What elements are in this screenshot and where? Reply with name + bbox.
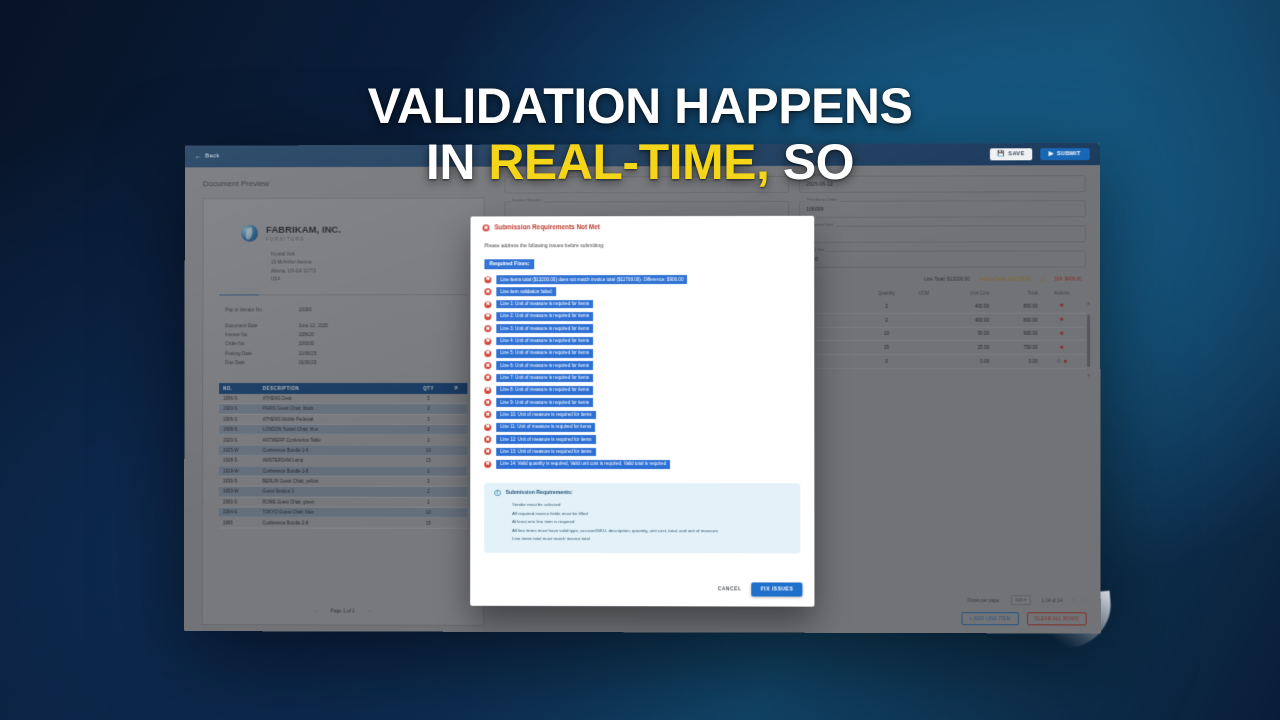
- dialog-subtitle: Please address the following issues befo…: [470, 237, 814, 254]
- requirement-item: Vendor must be selected: [512, 501, 790, 510]
- requirement-item: At least one line item is required: [512, 518, 790, 527]
- submit-button-label: SUBMIT: [1057, 151, 1081, 157]
- dialog-header: ✖ Submission Requirements Not Met: [471, 216, 815, 238]
- error-circle-icon: ✖: [484, 399, 491, 406]
- requirement-item: Line items total must match invoice tota…: [512, 535, 790, 544]
- error-message: Line 13: Unit of measure is required for…: [496, 448, 595, 457]
- error-circle-icon: ✖: [484, 411, 491, 418]
- error-circle-icon: ✖: [484, 448, 491, 455]
- info-icon: i: [494, 490, 500, 497]
- error-list-item: ✖Line 3: Unit of measure is required for…: [484, 324, 800, 333]
- error-list-item: ✖Line 4: Unit of measure is required for…: [484, 337, 800, 346]
- error-message: Line 14: Valid quantity is required, Val…: [496, 460, 670, 469]
- error-message: Line 6: Unit of measure is required for …: [496, 361, 593, 370]
- device-screen-wrapper: ← Back 💾 SAVE ▶ SUBMIT Document Preview: [182, 144, 1098, 632]
- error-message: Line 11: Unit of measure is required for…: [496, 423, 595, 432]
- error-list-item: ✖Line 6: Unit of measure is required for…: [484, 361, 800, 370]
- error-circle-icon: ✖: [484, 424, 491, 431]
- back-button[interactable]: ← Back: [195, 153, 220, 160]
- error-message: Line 2: Unit of measure is required for …: [496, 312, 593, 321]
- save-button[interactable]: 💾 SAVE: [990, 148, 1031, 160]
- error-circle-icon: ✖: [484, 325, 491, 332]
- error-message: Line 8: Unit of measure is required for …: [496, 386, 593, 395]
- error-circle-icon: ✖: [484, 461, 491, 468]
- application-window: ← Back 💾 SAVE ▶ SUBMIT Document Preview: [184, 143, 1101, 634]
- error-circle-icon: ✖: [484, 436, 491, 443]
- error-circle-icon: ✖: [482, 224, 489, 231]
- error-list-item: ✖Line 11: Unit of measure is required fo…: [484, 423, 800, 432]
- submission-requirements-panel: i Submission Requirements: Vendor must b…: [484, 483, 800, 554]
- error-message: Line item validation failed: [496, 287, 555, 296]
- error-circle-icon: ✖: [484, 288, 491, 295]
- error-message: Line 7: Unit of measure is required for …: [496, 374, 593, 383]
- error-list-item: ✖Line 7: Unit of measure is required for…: [484, 374, 800, 383]
- arrow-left-icon: ←: [195, 153, 202, 160]
- error-circle-icon: ✖: [484, 362, 491, 369]
- error-message: Line 12: Unit of measure is required for…: [496, 435, 595, 444]
- requirements-title-row: i Submission Requirements:: [494, 490, 790, 497]
- requirements-list: Vendor must be selectedAll required invo…: [512, 501, 790, 544]
- submit-button[interactable]: ▶ SUBMIT: [1040, 148, 1090, 160]
- back-button-label: Back: [205, 153, 219, 159]
- fix-issues-button[interactable]: FIX ISSUES: [752, 582, 803, 596]
- submission-requirements-dialog: ✖ Submission Requirements Not Met Please…: [470, 216, 814, 607]
- error-message: Line 10: Unit of measure is required for…: [496, 411, 595, 420]
- error-circle-icon: ✖: [484, 338, 491, 345]
- error-circle-icon: ✖: [484, 387, 491, 394]
- error-list-item: ✖Line 1: Unit of measure is required for…: [484, 300, 800, 309]
- error-list-item: ✖Line 2: Unit of measure is required for…: [484, 312, 800, 321]
- error-list-item: ✖Line 14: Valid quantity is required, Va…: [484, 460, 800, 469]
- cancel-button[interactable]: CANCEL: [718, 586, 742, 592]
- error-list-item: ✖Line 13: Unit of measure is required fo…: [484, 448, 800, 457]
- requirement-item: All required invoice fields must be fill…: [512, 510, 790, 519]
- error-message: Line 1: Unit of measure is required for …: [496, 300, 593, 309]
- error-message: Line items total ($13200.00) does not ma…: [496, 275, 687, 284]
- save-button-label: SAVE: [1008, 151, 1024, 157]
- app-screen: ← Back 💾 SAVE ▶ SUBMIT Document Preview: [184, 143, 1101, 634]
- dialog-footer: CANCEL FIX ISSUES: [470, 574, 814, 607]
- error-list-item: ✖Line 5: Unit of measure is required for…: [484, 349, 800, 358]
- dialog-title: Submission Requirements Not Met: [494, 224, 600, 231]
- error-message: Line 4: Unit of measure is required for …: [496, 337, 593, 346]
- app-top-bar: ← Back 💾 SAVE ▶ SUBMIT: [185, 143, 1100, 167]
- error-list-item: ✖Line 8: Unit of measure is required for…: [484, 386, 800, 395]
- error-message: Line 3: Unit of measure is required for …: [496, 324, 593, 333]
- error-list-item: ✖Line item validation failed: [484, 287, 800, 296]
- error-circle-icon: ✖: [484, 350, 491, 357]
- requirements-title: Submission Requirements:: [506, 490, 573, 496]
- error-circle-icon: ✖: [484, 276, 491, 283]
- error-circle-icon: ✖: [484, 313, 491, 320]
- error-message: Line 5: Unit of measure is required for …: [496, 349, 593, 358]
- error-list-item: ✖Line 12: Unit of measure is required fo…: [484, 435, 800, 444]
- send-icon: ▶: [1049, 151, 1054, 157]
- error-circle-icon: ✖: [484, 375, 491, 382]
- error-list-item: ✖Line items total ($13200.00) does not m…: [484, 275, 800, 284]
- required-fixes-label: Required Fixes:: [484, 259, 534, 269]
- app-body: Document Preview FABRIKAM, INC. FURNITUR…: [184, 165, 1101, 633]
- error-message: Line 9: Unit of measure is required for …: [496, 398, 593, 407]
- error-list: ✖Line items total ($13200.00) does not m…: [470, 273, 814, 475]
- error-list-item: ✖Line 9: Unit of measure is required for…: [484, 398, 800, 407]
- floppy-icon: 💾: [997, 151, 1005, 157]
- top-bar-spacer: [227, 154, 982, 156]
- error-circle-icon: ✖: [484, 301, 491, 308]
- error-list-item: ✖Line 10: Unit of measure is required fo…: [484, 411, 800, 420]
